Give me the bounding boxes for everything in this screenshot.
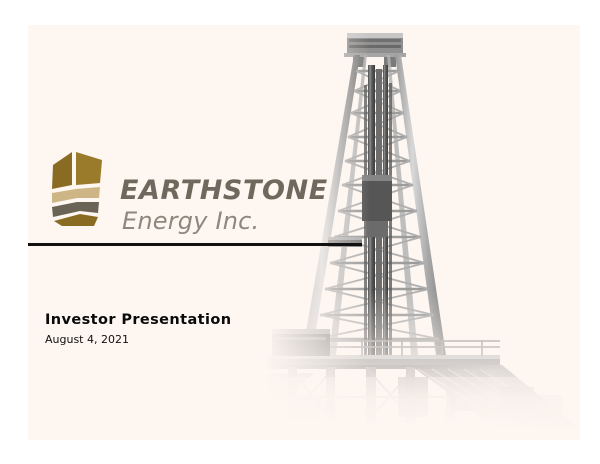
- logo-company-suffix: Energy Inc.: [122, 209, 328, 233]
- title-slide: EARTHSTONE Energy Inc. Investor Presenta…: [28, 25, 580, 440]
- presentation-date: August 4, 2021: [45, 333, 231, 346]
- logo-company-name: EARTHSTONE: [120, 177, 328, 204]
- title-block: Investor Presentation August 4, 2021: [45, 312, 231, 346]
- company-logo: EARTHSTONE Energy Inc.: [50, 151, 328, 233]
- travelling-block: [362, 175, 392, 237]
- logo-wordmark: EARTHSTONE Energy Inc.: [120, 151, 328, 233]
- earthstone-strata-mark: [50, 151, 106, 227]
- page-title: Investor Presentation: [45, 312, 231, 328]
- title-divider-rule: [28, 243, 362, 246]
